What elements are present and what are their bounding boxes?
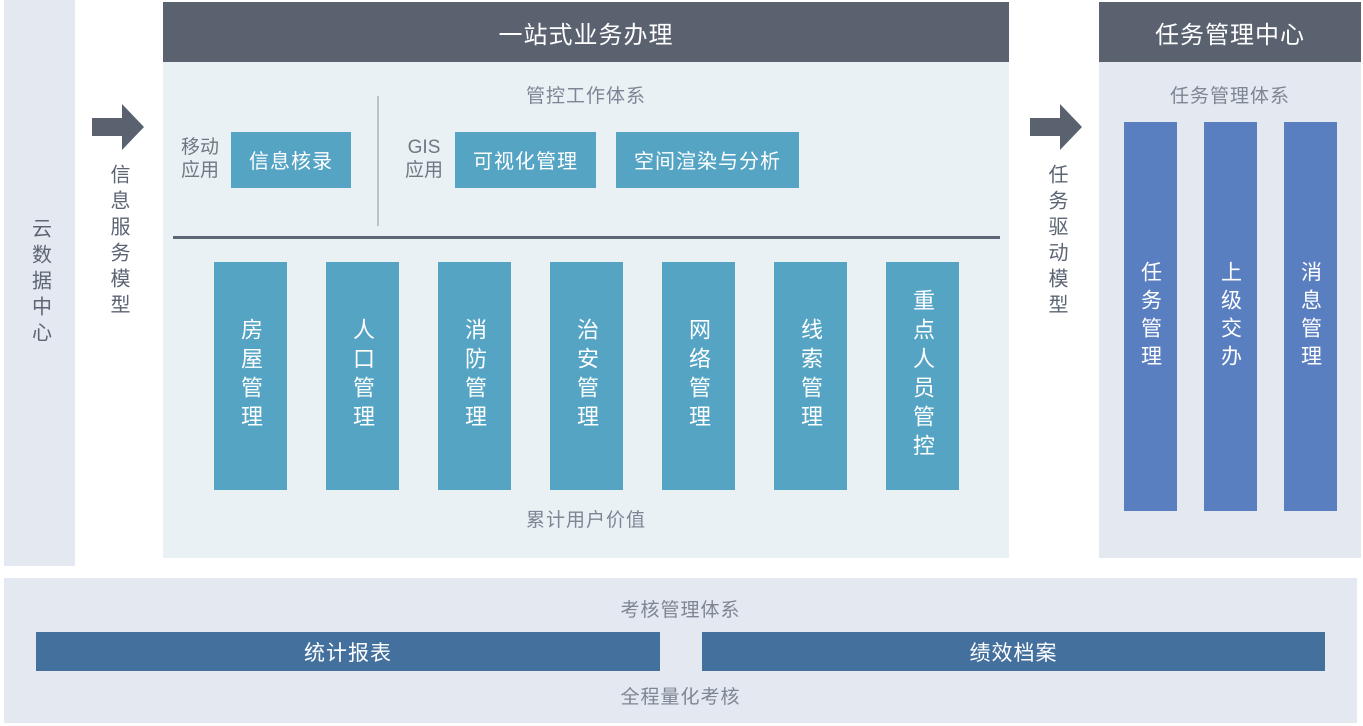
assessment-bar-performance-records[interactable]: 绩效档案 xyxy=(702,632,1325,671)
task-driven-flow: 任务驱动模型 xyxy=(1013,0,1099,566)
cloud-data-center-rail: 云数据中心 xyxy=(4,0,75,566)
module-bar-label: 网络管理 xyxy=(687,318,709,434)
chip-visual-management[interactable]: 可视化管理 xyxy=(455,132,596,188)
task-bar-label: 消息管理 xyxy=(1300,261,1321,373)
module-bar-label: 人口管理 xyxy=(351,318,373,434)
assessment-management-band: 考核管理体系 统计报表 绩效档案 全程量化考核 xyxy=(4,578,1357,723)
task-bar-group: 任务管理 上级交办 消息管理 xyxy=(1099,122,1361,511)
architecture-diagram: 云数据中心 信息服务模型 一站式业务办理 管控工作体系 移动 应用 信息核录 G… xyxy=(0,0,1363,726)
module-bar-label: 重点人员管控 xyxy=(911,289,933,463)
task-management-system-subtitle: 任务管理体系 xyxy=(1099,62,1361,108)
module-bar-public-security[interactable]: 治安管理 xyxy=(550,262,623,490)
module-bar-label: 线索管理 xyxy=(799,318,821,434)
application-group-label: 移动 应用 xyxy=(181,137,219,182)
chip-info-entry[interactable]: 信息核录 xyxy=(231,132,351,188)
module-bar-label: 房屋管理 xyxy=(239,318,261,434)
one-stop-business-panel: 一站式业务办理 管控工作体系 移动 应用 信息核录 GIS 应用 可视化管理 空… xyxy=(163,2,1009,558)
chip-spatial-render-analysis[interactable]: 空间渲染与分析 xyxy=(616,132,799,188)
task-bar-superior-assignment[interactable]: 上级交办 xyxy=(1204,122,1257,511)
task-bar-label: 上级交办 xyxy=(1220,261,1241,373)
module-bar-group: 房屋管理 人口管理 消防管理 治安管理 网络管理 线索管理 重点人员管控 xyxy=(163,262,1009,490)
right-arrow-icon xyxy=(92,104,144,150)
task-management-center-panel: 任务管理中心 任务管理体系 任务管理 上级交办 消息管理 xyxy=(1099,2,1361,558)
right-arrow-icon xyxy=(1030,104,1082,150)
information-service-flow: 信息服务模型 xyxy=(75,0,161,566)
cloud-data-center-label: 云数据中心 xyxy=(30,218,50,348)
module-bar-fire-safety[interactable]: 消防管理 xyxy=(438,262,511,490)
assessment-bar-statistical-reports[interactable]: 统计报表 xyxy=(36,632,660,671)
assessment-bar-group: 统计报表 绩效档案 xyxy=(4,632,1357,671)
module-bar-key-personnel[interactable]: 重点人员管控 xyxy=(886,262,959,490)
application-group-label: GIS 应用 xyxy=(405,137,443,182)
module-bar-network[interactable]: 网络管理 xyxy=(662,262,735,490)
module-bar-label: 消防管理 xyxy=(463,318,485,434)
application-group-gis: GIS 应用 可视化管理 空间渲染与分析 xyxy=(379,132,799,188)
module-bar-population[interactable]: 人口管理 xyxy=(326,262,399,490)
module-bar-housing[interactable]: 房屋管理 xyxy=(214,262,287,490)
module-bar-label: 治安管理 xyxy=(575,318,597,434)
task-driven-model-label: 任务驱动模型 xyxy=(1046,164,1066,320)
control-work-system-subtitle: 管控工作体系 xyxy=(163,62,1009,108)
information-service-model-label: 信息服务模型 xyxy=(108,164,128,320)
task-bar-message-management[interactable]: 消息管理 xyxy=(1284,122,1337,511)
full-process-quantified-assessment-label: 全程量化考核 xyxy=(4,671,1357,709)
assessment-management-system-label: 考核管理体系 xyxy=(4,578,1357,622)
module-bar-clues[interactable]: 线索管理 xyxy=(774,262,847,490)
task-bar-label: 任务管理 xyxy=(1140,261,1161,373)
application-row: 移动 应用 信息核录 GIS 应用 可视化管理 空间渲染与分析 xyxy=(163,121,1009,198)
section-divider-line xyxy=(173,236,1000,239)
task-bar-task-management[interactable]: 任务管理 xyxy=(1124,122,1177,511)
one-stop-business-title: 一站式业务办理 xyxy=(163,2,1009,62)
cumulative-user-value-label: 累计用户价值 xyxy=(163,505,1009,532)
application-group-mobile: 移动 应用 信息核录 xyxy=(181,132,351,188)
task-management-center-title: 任务管理中心 xyxy=(1099,2,1361,62)
